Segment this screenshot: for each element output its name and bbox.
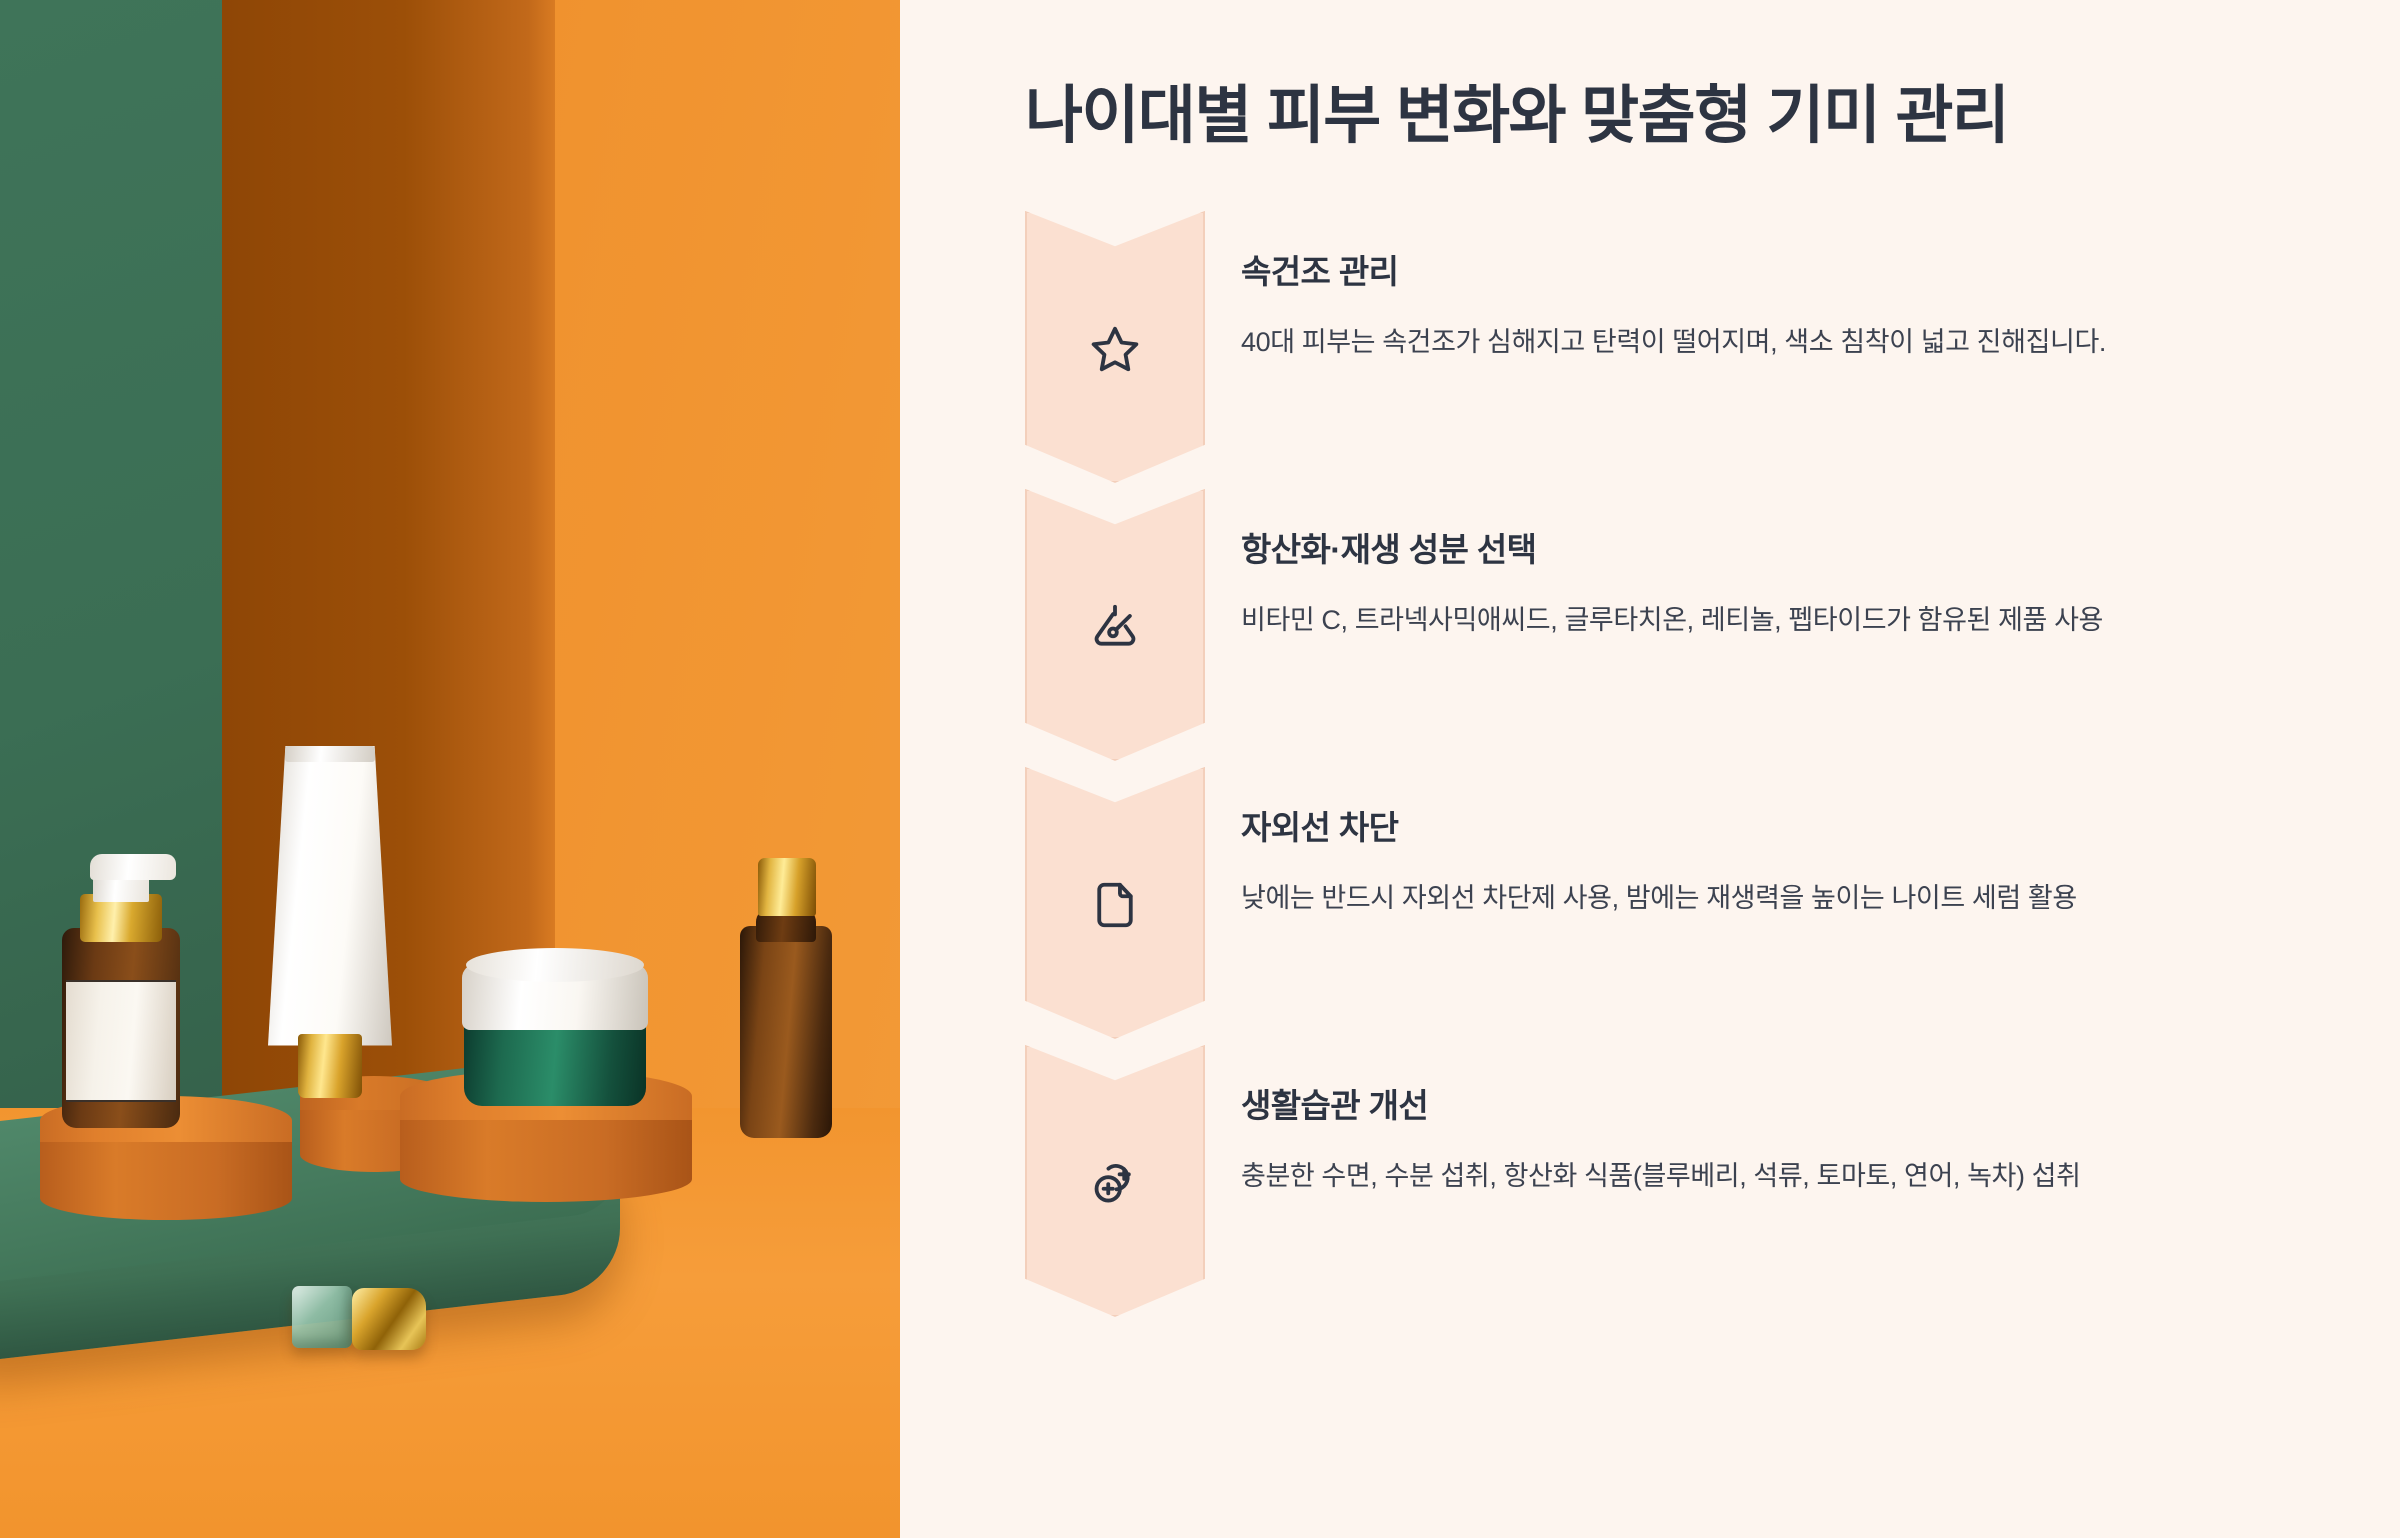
item-text: 항산화·재생 성분 선택 비타민 C, 트라넥사믹애씨드, 글루타치온, 레티놀…	[1241, 489, 2103, 643]
document-icon	[1086, 876, 1144, 934]
item-description: 충분한 수면, 수분 섭취, 항산화 식품(블루베리, 석류, 토마토, 연어,…	[1241, 1153, 2081, 1199]
gel-cube	[292, 1286, 352, 1348]
item-description: 비타민 C, 트라넥사믹애씨드, 글루타치온, 레티놀, 펩타이드가 함유된 제…	[1241, 597, 2103, 643]
list-item: 항산화·재생 성분 선택 비타민 C, 트라넥사믹애씨드, 글루타치온, 레티놀…	[1025, 489, 2260, 767]
list-item: 자외선 차단 낮에는 반드시 자외선 차단제 사용, 밤에는 재생력을 높이는 …	[1025, 767, 2260, 1045]
banner-shape-2	[1025, 489, 1205, 761]
item-text: 속건조 관리 40대 피부는 속건조가 심해지고 탄력이 떨어지며, 색소 침착…	[1241, 211, 2106, 365]
star-icon	[1086, 320, 1144, 378]
slide-root: 나이대별 피부 변화와 맞춤형 기미 관리 속건조 관리 40대 피부는 속건조…	[0, 0, 2400, 1538]
list-item: 속건조 관리 40대 피부는 속건조가 심해지고 탄력이 떨어지며, 색소 침착…	[1025, 211, 2260, 489]
item-title: 항산화·재생 성분 선택	[1241, 523, 2103, 571]
gold-nugget	[352, 1288, 426, 1350]
white-cream-tube	[268, 748, 392, 1098]
content-panel: 나이대별 피부 변화와 맞춤형 기미 관리 속건조 관리 40대 피부는 속건조…	[900, 0, 2400, 1538]
item-description: 40대 피부는 속건조가 심해지고 탄력이 떨어지며, 색소 침착이 넓고 진해…	[1241, 319, 2106, 365]
list-item: 생활습관 개선 충분한 수면, 수분 섭취, 항산화 식품(블루베리, 석류, …	[1025, 1045, 2260, 1323]
page-title: 나이대별 피부 변화와 맞춤형 기미 관리	[1025, 78, 2245, 155]
item-title: 속건조 관리	[1241, 245, 2106, 293]
item-title: 자외선 차단	[1241, 801, 2077, 849]
banner-shape-1	[1025, 211, 1205, 483]
banner-shape-4	[1025, 1045, 1205, 1317]
banner-shape-3	[1025, 767, 1205, 1039]
coins-plus-icon	[1086, 1154, 1144, 1212]
product-photo	[0, 0, 900, 1538]
item-title: 생활습관 개선	[1241, 1079, 2081, 1127]
item-text: 생활습관 개선 충분한 수면, 수분 섭취, 항산화 식품(블루베리, 석류, …	[1241, 1045, 2081, 1199]
item-text: 자외선 차단 낮에는 반드시 자외선 차단제 사용, 밤에는 재생력을 높이는 …	[1241, 767, 2077, 921]
gauge-icon	[1086, 598, 1144, 656]
item-description: 낮에는 반드시 자외선 차단제 사용, 밤에는 재생력을 높이는 나이트 세럼 …	[1241, 875, 2077, 921]
amber-pump-bottle	[62, 858, 180, 1128]
green-cream-jar	[462, 946, 648, 1106]
amber-dropper-bottle	[740, 858, 832, 1138]
item-list: 속건조 관리 40대 피부는 속건조가 심해지고 탄력이 떨어지며, 색소 침착…	[1025, 211, 2260, 1323]
